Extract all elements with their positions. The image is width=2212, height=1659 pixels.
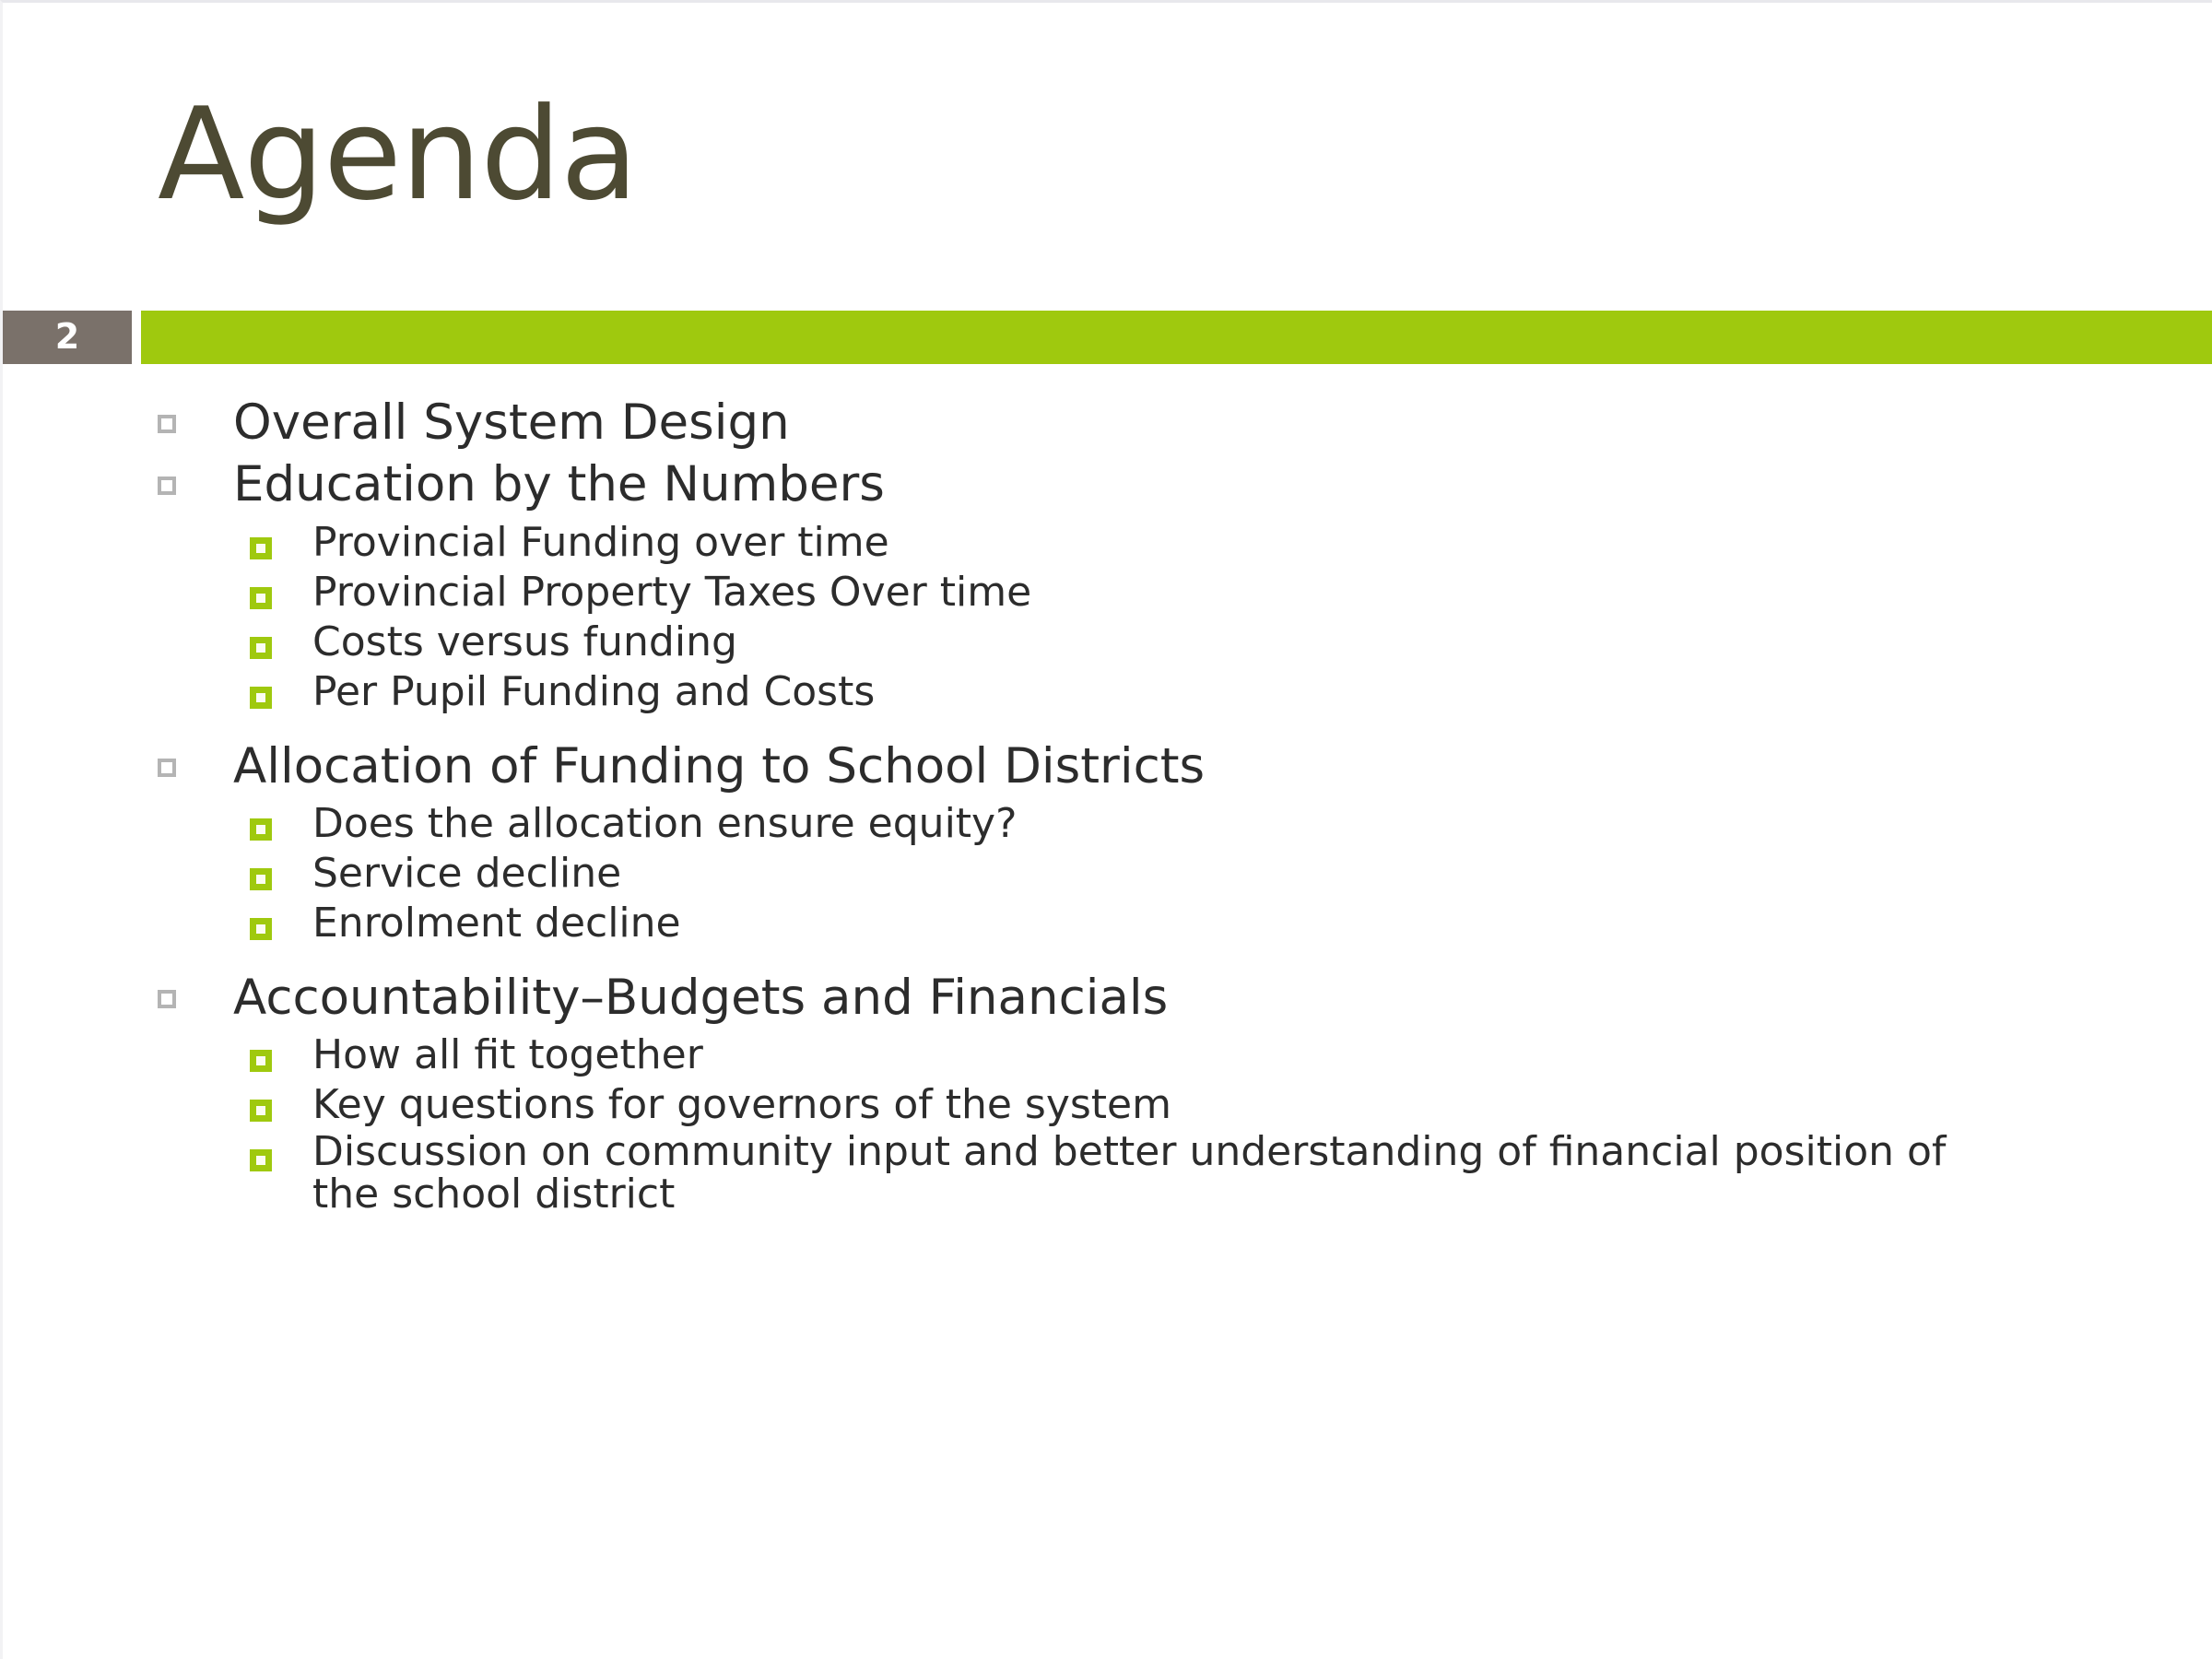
list-item[interactable]: Per Pupil Funding and Costs [3, 668, 2212, 716]
spacer [3, 718, 2212, 738]
list-item[interactable]: Overall System Design [3, 394, 2212, 451]
slide-number-badge: 2 [3, 311, 132, 364]
green-square-bullet-icon [250, 569, 312, 609]
list-item-label: Provincial Property Taxes Over time [312, 569, 1031, 617]
green-square-bullet-icon [250, 800, 312, 841]
accent-bar [141, 311, 2212, 364]
list-item-label: Costs versus funding [312, 618, 737, 666]
list-item-label: Discussion on community input and better… [312, 1131, 2018, 1216]
green-square-bullet-icon [250, 1031, 312, 1072]
list-item-label: Accountability–Budgets and Financials [233, 970, 1168, 1026]
hollow-square-bullet-icon [158, 456, 233, 495]
list-item[interactable]: Does the allocation ensure equity? [3, 800, 2212, 848]
hollow-square-bullet-icon [158, 970, 233, 1008]
green-square-bullet-icon [250, 1131, 312, 1171]
list-item-label: Per Pupil Funding and Costs [312, 668, 875, 716]
green-square-bullet-icon [250, 618, 312, 659]
green-square-bullet-icon [250, 900, 312, 940]
slide-accent-band: 2 [3, 311, 2212, 364]
list-item-label: How all fit together [312, 1031, 703, 1079]
agenda-outline-list: Overall System Design Education by the N… [3, 394, 2212, 1218]
green-square-bullet-icon [250, 519, 312, 559]
list-item-label: Allocation of Funding to School District… [233, 738, 1205, 794]
list-item[interactable]: How all fit together [3, 1031, 2212, 1079]
list-item-label: Education by the Numbers [233, 456, 885, 512]
list-item-label: Enrolment decline [312, 900, 681, 947]
list-item[interactable]: Service decline [3, 850, 2212, 898]
page-title: Agenda [158, 91, 638, 218]
list-item-label: Key questions for governors of the syste… [312, 1081, 1171, 1129]
hollow-square-bullet-icon [158, 738, 233, 777]
green-square-bullet-icon [250, 668, 312, 709]
spacer [3, 949, 2212, 970]
list-item-label: Provincial Funding over time [312, 519, 889, 567]
list-item[interactable]: Accountability–Budgets and Financials [3, 970, 2212, 1026]
list-item[interactable]: Key questions for governors of the syste… [3, 1081, 2212, 1129]
list-item[interactable]: Allocation of Funding to School District… [3, 738, 2212, 794]
list-item-label: Service decline [312, 850, 621, 898]
list-item[interactable]: Education by the Numbers [3, 456, 2212, 512]
list-item-label: Overall System Design [233, 394, 790, 451]
list-item-label: Does the allocation ensure equity? [312, 800, 1017, 848]
list-item[interactable]: Provincial Funding over time [3, 519, 2212, 567]
presentation-slide: Agenda 2 Overall System Design Education… [0, 0, 2212, 1659]
list-item[interactable]: Discussion on community input and better… [3, 1131, 2212, 1216]
green-square-bullet-icon [250, 1081, 312, 1122]
green-square-bullet-icon [250, 850, 312, 890]
list-item[interactable]: Enrolment decline [3, 900, 2212, 947]
list-item[interactable]: Provincial Property Taxes Over time [3, 569, 2212, 617]
hollow-square-bullet-icon [158, 394, 233, 433]
list-item[interactable]: Costs versus funding [3, 618, 2212, 666]
